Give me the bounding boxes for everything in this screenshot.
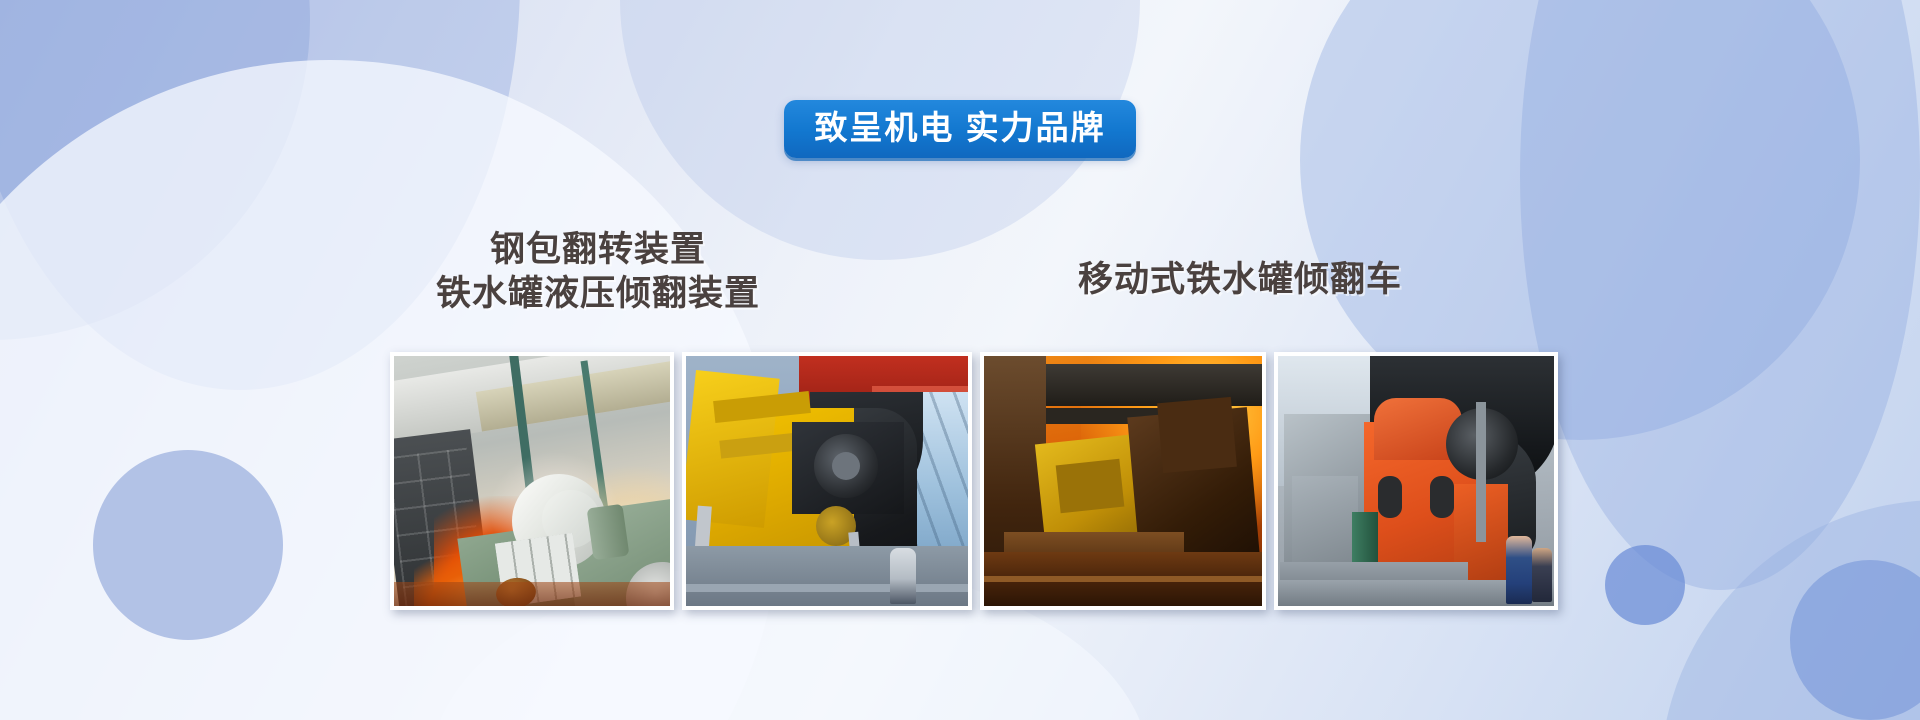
photo-3-ladle-top bbox=[1157, 397, 1237, 473]
photo-ladle-tilting-device[interactable] bbox=[390, 352, 674, 610]
photo-4-slot-left bbox=[1378, 476, 1402, 518]
brand-slogan-badge: 致呈机电 实力品牌 bbox=[784, 100, 1135, 158]
heading-left-line2: 铁水罐液压倾翻装置 bbox=[388, 272, 808, 316]
photo-2-worker bbox=[890, 548, 916, 604]
photo-2-ground bbox=[686, 546, 968, 606]
photo-4-worker-2 bbox=[1532, 548, 1552, 602]
background-circle-edge-right bbox=[1790, 560, 1920, 720]
photo-1-scene bbox=[394, 356, 670, 606]
photo-4-post bbox=[1476, 402, 1486, 542]
badge-container: 致呈机电 实力品牌 bbox=[0, 100, 1920, 158]
background-ellipse-top-left-deep bbox=[0, 0, 520, 390]
heading-left-line1: 钢包翻转装置 bbox=[388, 228, 808, 272]
promo-banner: 致呈机电 实力品牌 钢包翻转装置 铁水罐液压倾翻装置 移动式铁水罐倾翻车 bbox=[0, 0, 1920, 720]
photo-3-rail-track bbox=[984, 576, 1262, 582]
heading-right: 移动式铁水罐倾翻车 bbox=[1030, 258, 1450, 302]
background-circle-small-deep-right bbox=[1605, 545, 1685, 625]
photo-4-slot-right bbox=[1430, 476, 1454, 518]
heading-left: 钢包翻转装置 铁水罐液压倾翻装置 bbox=[388, 228, 808, 316]
heading-right-line1: 移动式铁水罐倾翻车 bbox=[1078, 260, 1402, 299]
background-circle-bottom-left bbox=[93, 450, 283, 640]
product-photo-gallery bbox=[390, 352, 1558, 614]
photo-yellow-hydraulic-tipper[interactable] bbox=[682, 352, 972, 610]
photo-mobile-tipping-car[interactable] bbox=[1274, 352, 1558, 610]
photo-4-worker bbox=[1506, 536, 1532, 604]
background-ellipse-right-tall bbox=[1520, 0, 1920, 590]
photo-2-rail bbox=[686, 584, 968, 592]
photo-3-yellow-panel bbox=[1056, 459, 1125, 513]
photo-4-scene bbox=[1278, 356, 1554, 606]
photo-2-hub-center bbox=[832, 452, 860, 480]
photo-2-scene bbox=[686, 356, 968, 606]
photo-1-floor bbox=[394, 582, 670, 606]
background-circle-bottom-right bbox=[1660, 500, 1920, 720]
photo-1-cylinder bbox=[587, 504, 630, 561]
photo-furnace-hall-tipper[interactable] bbox=[980, 352, 1266, 610]
photo-3-scene bbox=[984, 356, 1262, 606]
background-circle-top-left bbox=[0, 0, 310, 340]
